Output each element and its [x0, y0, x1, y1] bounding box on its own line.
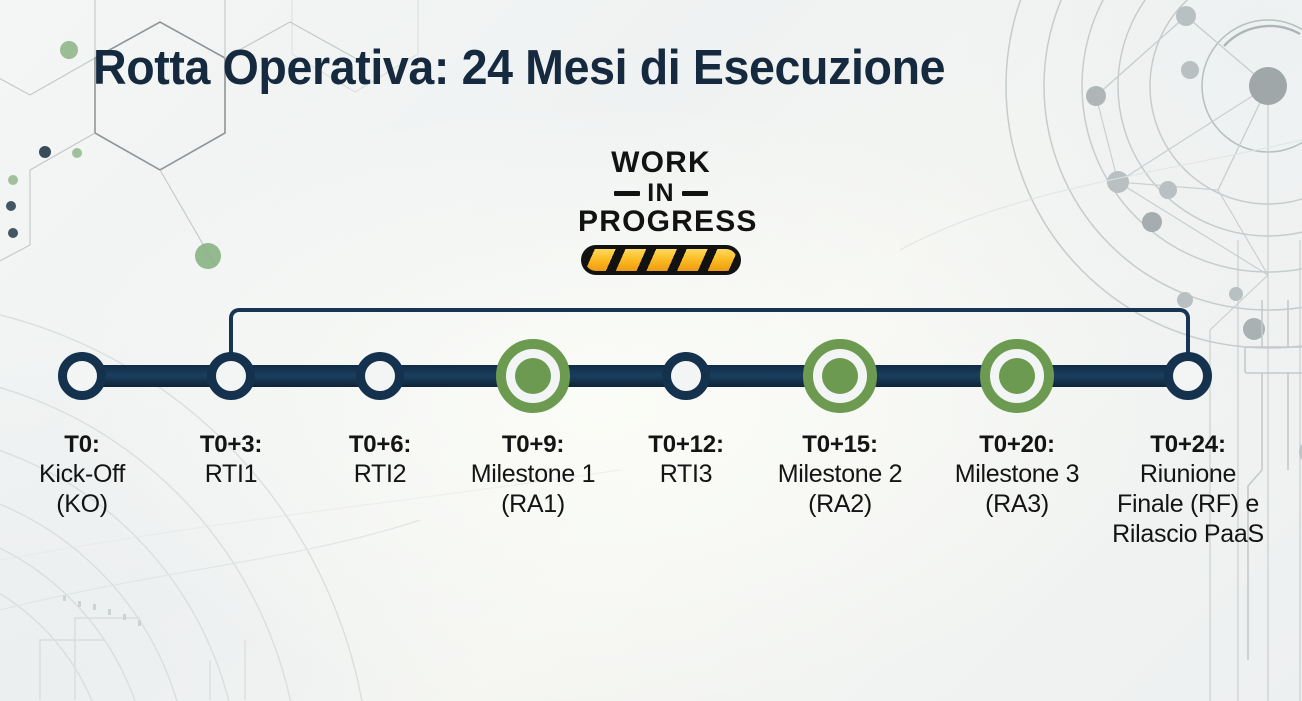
milestone-core	[822, 358, 858, 394]
wip-rule-right	[682, 191, 708, 196]
label-text-line-2: (RA1)	[433, 489, 633, 519]
label-text-line-1: Riunione	[1088, 459, 1288, 489]
label-text-line-3: Rilascio PaaS	[1088, 519, 1288, 549]
timeline-node-t012[interactable]	[662, 352, 710, 400]
timeline-node-t06[interactable]	[356, 352, 404, 400]
timeline-node-t09[interactable]	[496, 339, 570, 413]
wip-word-progress: PROGRESS	[578, 207, 744, 237]
label-text-line-2: (RA2)	[740, 489, 940, 519]
wip-rule-left	[614, 191, 640, 196]
label-timecode: T0+24:	[1088, 430, 1288, 459]
timeline-node-t03[interactable]	[207, 352, 255, 400]
timeline	[0, 296, 1302, 416]
timeline-node-t015[interactable]	[803, 339, 877, 413]
timeline-label-t024: T0+24:RiunioneFinale (RF) eRilascio PaaS	[1088, 430, 1288, 549]
timeline-node-t024[interactable]	[1164, 352, 1212, 400]
timeline-node-t0[interactable]	[58, 352, 106, 400]
label-timecode: T0+20:	[917, 430, 1117, 459]
work-in-progress-badge: WORK IN PROGRESS	[578, 148, 744, 275]
label-text-line-2: Finale (RF) e	[1088, 489, 1288, 519]
milestone-core	[515, 358, 551, 394]
wip-middle-row: IN	[578, 180, 744, 206]
label-text-line-2: (RA3)	[917, 489, 1117, 519]
timeline-label-t015: T0+15:Milestone 2(RA2)	[740, 430, 940, 519]
label-timecode: T0+15:	[740, 430, 940, 459]
label-text-line-2: (KO)	[0, 489, 182, 519]
label-text-line-1: Milestone 3	[917, 459, 1117, 489]
timeline-label-t020: T0+20:Milestone 3(RA3)	[917, 430, 1117, 519]
network-dots-top-right	[1086, 6, 1287, 340]
milestone-core	[999, 358, 1035, 394]
caution-stripe-bar	[581, 245, 741, 275]
label-text-line-1: Milestone 2	[740, 459, 940, 489]
caution-stripe-fill	[585, 249, 737, 271]
timeline-node-t020[interactable]	[980, 339, 1054, 413]
wip-word-work: WORK	[578, 148, 744, 178]
page-title: Rotta Operativa: 24 Mesi di Esecuzione	[93, 38, 945, 98]
tick-dots-bottom-left	[63, 595, 141, 626]
slide-canvas: Rotta Operativa: 24 Mesi di Esecuzione W…	[0, 0, 1302, 701]
wip-word-in: IN	[647, 180, 674, 206]
